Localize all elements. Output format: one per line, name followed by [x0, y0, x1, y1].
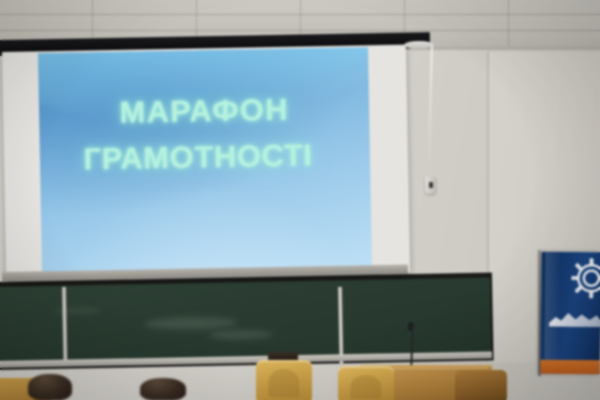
projected-slide: МАРАФОН ГРАМОТНОСТІ	[38, 47, 372, 275]
roll-up-banner	[540, 252, 600, 375]
chair	[455, 370, 507, 400]
chair-back-detail	[350, 375, 381, 399]
slide-glow	[40, 180, 372, 275]
chair	[256, 360, 312, 400]
lecture-hall-photo: МАРАФОН ГРАМОТНОСТІ	[0, 0, 600, 400]
banner-footer-band	[540, 360, 599, 375]
chair	[338, 366, 394, 400]
slide-title: МАРАФОН ГРАМОТНОСТІ	[39, 85, 371, 183]
slide-title-line-2: ГРАМОТНОСТІ	[38, 131, 363, 183]
slide-title-line-1: МАРАФОН	[119, 92, 289, 130]
projection-screen: МАРАФОН ГРАМОТНОСТІ	[2, 45, 410, 280]
audience-head	[28, 374, 72, 400]
gear-cog-icon	[569, 256, 600, 300]
banner-sheen	[544, 252, 561, 374]
remote-button[interactable]	[429, 182, 433, 188]
audience-head	[140, 378, 186, 400]
screen-remote-switch[interactable]	[425, 176, 436, 194]
screen-ceiling-mount	[404, 41, 434, 49]
chair-back-detail	[268, 369, 299, 397]
